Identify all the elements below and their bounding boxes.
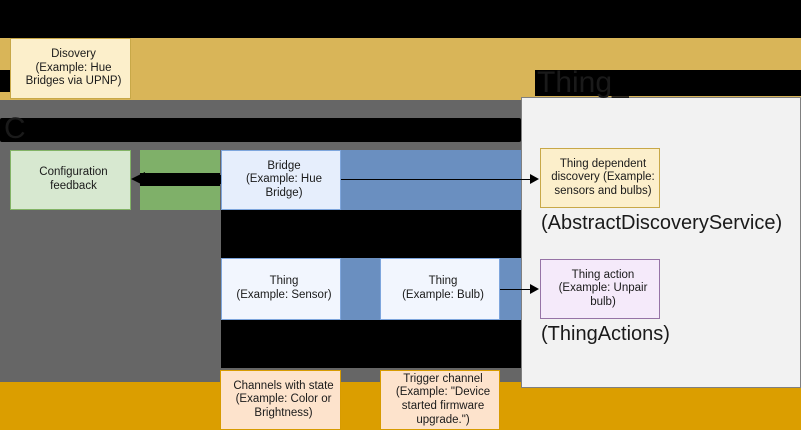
heading-config-partial: C [4, 112, 26, 146]
label-abstract-discovery-service: (AbstractDiscoveryService) [541, 212, 782, 235]
diagram-canvas: Thing_ C Disovery (Example: Hue Bridges … [0, 0, 801, 430]
box-channels-with-state-text: Channels with state (Example: Color or B… [221, 380, 340, 421]
box-thing-dependent-discovery[interactable]: Thing dependent discovery (Example: sens… [540, 148, 660, 208]
box-thing-bulb[interactable]: Thing (Example: Bulb) [380, 258, 500, 320]
box-thing-dependent-discovery-text: Thing dependent discovery (Example: sens… [541, 158, 659, 199]
box-trigger-channel-text: Trigger channel (Example: "Device starte… [381, 373, 499, 427]
box-channels-with-state[interactable]: Channels with state (Example: Color or B… [220, 370, 341, 430]
arrow-bridge-to-discovery-head [530, 174, 539, 184]
box-configuration-feedback-text: Configuration feedback [11, 166, 130, 193]
box-thing-action-text: Thing action (Example: Unpair bulb) [541, 269, 659, 310]
label-thing-actions: (ThingActions) [541, 323, 670, 346]
box-discovery-text: Disovery (Example: Hue Bridges via UPNP) [11, 48, 130, 89]
box-thing-sensor-text: Thing (Example: Sensor) [222, 275, 340, 302]
arrow-thing-to-channels-head [271, 356, 285, 368]
arrow-bulb-to-action-head [530, 284, 539, 294]
arrow-bridge-to-config-line [145, 175, 221, 184]
arrow-bridge-to-config-head [131, 172, 145, 186]
box-thing-sensor[interactable]: Thing (Example: Sensor) [221, 258, 341, 320]
heading-thing-partial: Thing_ [537, 66, 629, 100]
box-trigger-channel[interactable]: Trigger channel (Example: "Device starte… [380, 370, 500, 430]
redaction-bar-left-tab [0, 70, 10, 92]
box-thing-action[interactable]: Thing action (Example: Unpair bulb) [540, 259, 660, 319]
band-top-black [0, 0, 801, 38]
arrow-bridge-to-discovery-line [341, 179, 531, 180]
box-configuration-feedback[interactable]: Configuration feedback [10, 150, 131, 210]
arrow-bridge-to-thing-head [271, 244, 285, 256]
box-thing-bulb-text: Thing (Example: Bulb) [381, 275, 499, 302]
box-discovery[interactable]: Disovery (Example: Hue Bridges via UPNP) [10, 38, 131, 99]
arrow-bulb-to-action-line [500, 289, 531, 290]
box-bridge[interactable]: Bridge (Example: Hue Bridge) [221, 150, 341, 210]
redaction-bar-bridge-arrow-stub [221, 222, 341, 236]
band-blue-bridge-row [340, 150, 521, 210]
box-bridge-text: Bridge (Example: Hue Bridge) [222, 160, 340, 201]
redaction-bar-title-middle [0, 118, 521, 142]
redaction-bar-thing-row-under [221, 320, 521, 368]
